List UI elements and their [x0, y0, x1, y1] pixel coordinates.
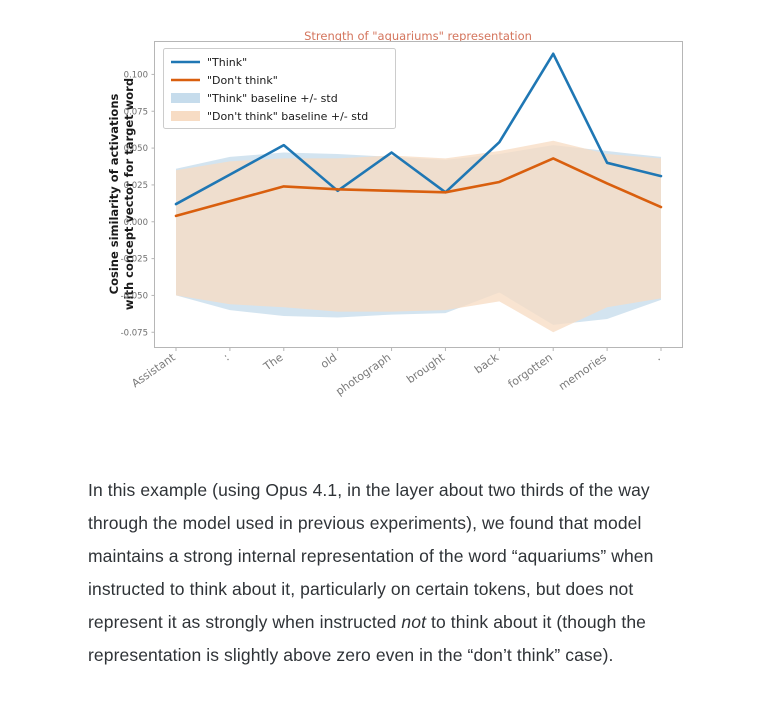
- x-tick-label: memories: [556, 351, 609, 393]
- chart-svg: Strength of "aquariums" representation C…: [0, 0, 770, 440]
- x-tick-label: old: [318, 351, 339, 371]
- y-tick-label: -0.050: [121, 291, 148, 301]
- x-axis-tick-labels: Assistant:Theoldphotographbroughtbackfor…: [129, 350, 663, 398]
- legend-band-swatch: [171, 111, 200, 121]
- baseline-band: [176, 141, 661, 333]
- chart-legend: "Think""Don't think""Think" baseline +/-…: [164, 49, 396, 129]
- x-tick-label: photograph: [333, 351, 393, 398]
- legend-label: "Don't think": [207, 74, 278, 87]
- legend-label: "Think" baseline +/- std: [207, 92, 338, 105]
- y-tick-label: 0.050: [124, 144, 148, 154]
- x-tick-label: back: [472, 350, 501, 376]
- x-tick-label: :: [221, 351, 232, 364]
- paragraph-emphasis: not: [401, 612, 426, 632]
- body-paragraph: In this example (using Opus 4.1, in the …: [88, 474, 688, 672]
- legend-band-swatch: [171, 93, 200, 103]
- legend-label: "Don't think" baseline +/- std: [207, 110, 368, 123]
- x-tick-label: forgotten: [506, 351, 555, 391]
- x-tick-label: Assistant: [129, 350, 178, 390]
- y-tick-label: 0.000: [124, 218, 148, 228]
- y-tick-label: -0.075: [121, 328, 148, 338]
- x-tick-label: The: [260, 351, 285, 374]
- chart-title: Strength of "aquariums" representation: [304, 29, 532, 43]
- page-root: Strength of "aquariums" representation C…: [0, 0, 770, 709]
- y-tick-label: 0.100: [124, 70, 148, 80]
- x-tick-label: .: [652, 351, 662, 364]
- paragraph-text: In this example (using Opus 4.1, in the …: [88, 474, 688, 672]
- chart-figure: Strength of "aquariums" representation C…: [0, 0, 770, 440]
- y-tick-label: 0.025: [124, 181, 148, 191]
- y-axis-label-line1: Cosine similarity of activations: [107, 94, 121, 295]
- x-tick-label: brought: [404, 350, 447, 386]
- legend-label: "Think": [207, 56, 247, 69]
- y-tick-label: 0.075: [124, 107, 148, 117]
- baseline-band-layer: [176, 141, 661, 333]
- paragraph-part-1: In this example (using Opus 4.1, in the …: [88, 480, 653, 632]
- y-tick-label: -0.025: [121, 255, 148, 265]
